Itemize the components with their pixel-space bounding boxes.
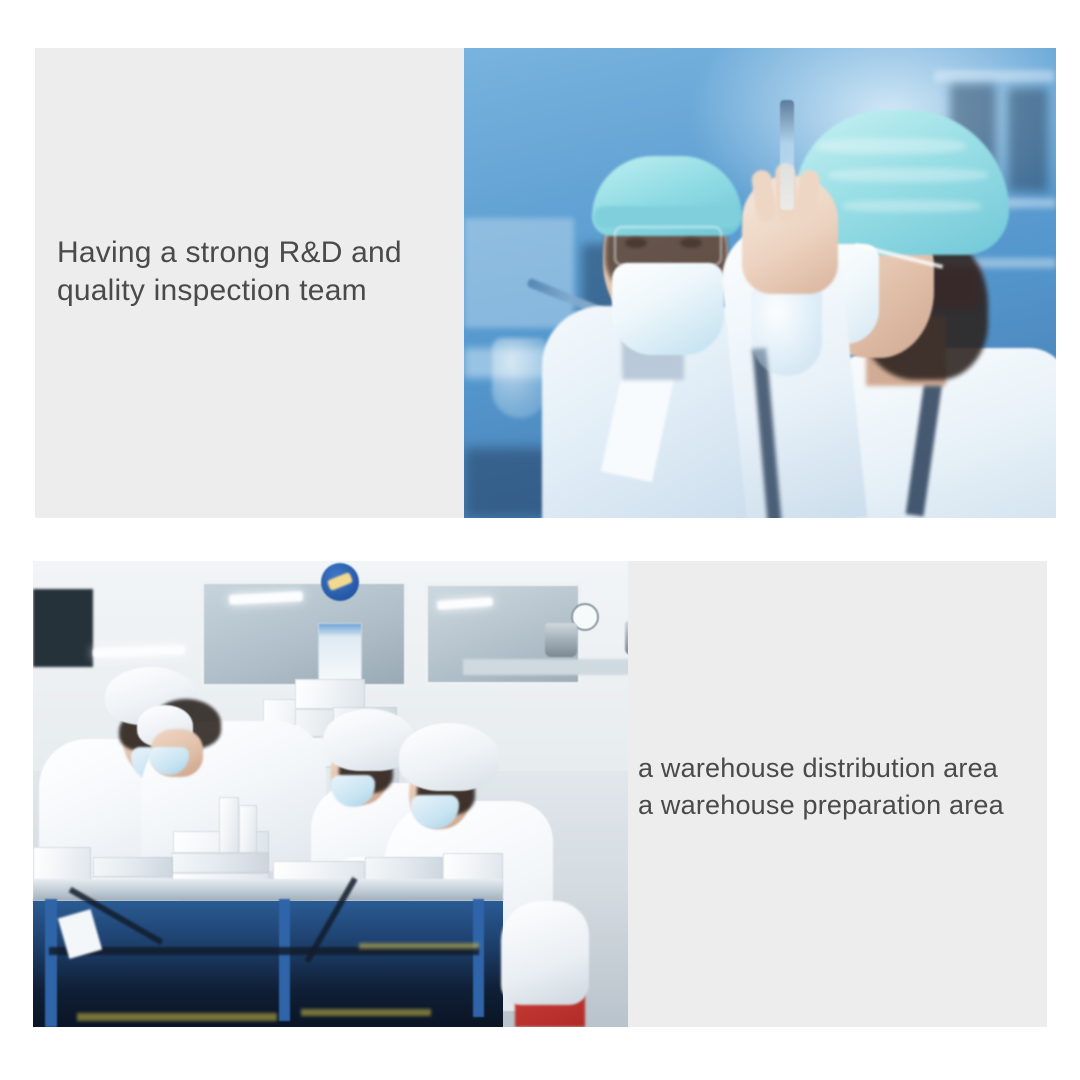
technician-left-eye — [625, 238, 647, 248]
caption-line-2: a warehouse preparation area — [638, 787, 1048, 824]
lab-flask-secondary — [492, 338, 548, 418]
lab-flask-primary — [752, 284, 822, 376]
hairnet-fold — [842, 200, 982, 212]
floor-safety-stripe — [359, 943, 479, 949]
stainless-container — [625, 621, 628, 655]
hairnet-fold — [816, 138, 966, 154]
sample-vial — [780, 100, 794, 210]
technician-left-hairnet-band — [594, 206, 740, 228]
photo-warehouse-packing-line — [33, 561, 628, 1027]
table-leg — [473, 899, 484, 1017]
stainless-container — [545, 623, 577, 657]
floor-safety-stripe — [301, 1009, 431, 1016]
table-leg — [279, 899, 290, 1021]
wall-notice-poster — [318, 623, 362, 685]
caption-line-1: a warehouse distribution area — [638, 750, 1048, 787]
back-counter — [463, 659, 628, 675]
lab-shelf-edge — [934, 70, 1054, 82]
floor-safety-stripe — [77, 1013, 277, 1021]
carton-box — [171, 853, 269, 873]
caption-rd-quality-inspection: Having a strong R&D and quality inspecti… — [57, 234, 457, 310]
caption-warehouse-areas: a warehouse distribution area a warehous… — [638, 750, 1048, 824]
caption-line-1: Having a strong R&D and — [57, 234, 457, 272]
product-detail-page: Having a strong R&D and quality inspecti… — [0, 0, 1080, 1080]
caption-line-2: quality inspection team — [57, 272, 457, 310]
hairnet-fold — [828, 168, 988, 182]
lab-equipment-silhouette — [1008, 88, 1048, 192]
wall-safety-sign-icon — [321, 563, 359, 601]
technician-left-eye — [680, 238, 702, 248]
stainless-work-table — [33, 879, 503, 901]
lab-cabinet — [464, 218, 574, 328]
carton-stack — [295, 679, 365, 709]
worker-hairnet — [399, 723, 499, 791]
table-leg — [45, 899, 57, 1027]
warehouse-floor — [33, 901, 503, 1027]
carton-box — [93, 857, 173, 877]
section-warehouse-areas: a warehouse distribution area a warehous… — [33, 561, 1047, 1027]
white-packaging-bundle — [501, 901, 589, 1005]
product-bottle — [239, 805, 257, 853]
section-rd-quality-inspection: Having a strong R&D and quality inspecti… — [35, 48, 1056, 518]
photo-laboratory-quality-inspection — [464, 48, 1056, 518]
product-bottle — [219, 797, 239, 853]
technician-left-face-mask — [612, 263, 724, 355]
warehouse-dark-window — [33, 589, 93, 667]
